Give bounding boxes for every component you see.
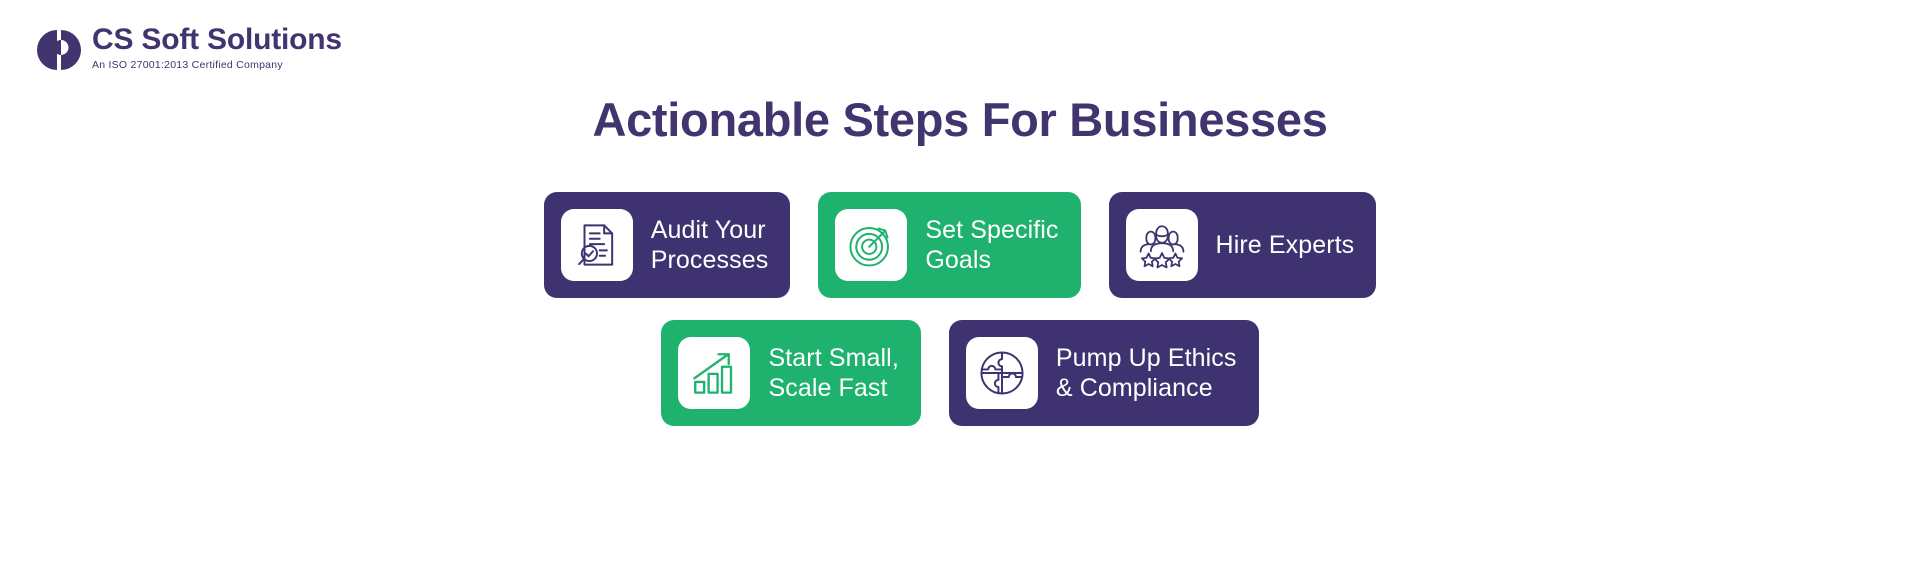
puzzle-circle-icon: [966, 337, 1038, 409]
cs-monogram-icon: [34, 26, 82, 74]
page-title: Actionable Steps For Businesses: [0, 92, 1920, 147]
card-hire-experts[interactable]: Hire Experts: [1109, 192, 1377, 298]
infographic-page: CS Soft Solutions An ISO 27001:2013 Cert…: [0, 0, 1920, 586]
card-label: Set Specific Goals: [925, 215, 1058, 275]
team-stars-icon: [1126, 209, 1198, 281]
card-start-small-scale-fast[interactable]: Start Small, Scale Fast: [661, 320, 920, 426]
card-audit-your-processes[interactable]: Audit Your Processes: [544, 192, 791, 298]
card-label: Pump Up Ethics & Compliance: [1056, 343, 1237, 403]
logo-tagline: An ISO 27001:2013 Certified Company: [92, 59, 342, 73]
card-row-1: Audit Your Processes Set Specific Goals: [544, 192, 1377, 298]
card-label: Audit Your Processes: [651, 215, 769, 275]
card-label: Hire Experts: [1216, 230, 1355, 260]
logo-text-block: CS Soft Solutions An ISO 27001:2013 Cert…: [92, 24, 342, 72]
steps-card-grid: Audit Your Processes Set Specific Goals: [0, 192, 1920, 426]
company-logo[interactable]: CS Soft Solutions An ISO 27001:2013 Cert…: [34, 24, 342, 74]
card-pump-up-ethics-compliance[interactable]: Pump Up Ethics & Compliance: [949, 320, 1259, 426]
card-row-2: Start Small, Scale Fast Pu: [661, 320, 1258, 426]
logo-wordmark: CS Soft Solutions: [92, 24, 342, 56]
target-arrow-icon: [835, 209, 907, 281]
card-set-specific-goals[interactable]: Set Specific Goals: [818, 192, 1080, 298]
bar-chart-growth-arrow-icon: [678, 337, 750, 409]
document-magnifier-check-icon: [561, 209, 633, 281]
card-label: Start Small, Scale Fast: [768, 343, 898, 403]
